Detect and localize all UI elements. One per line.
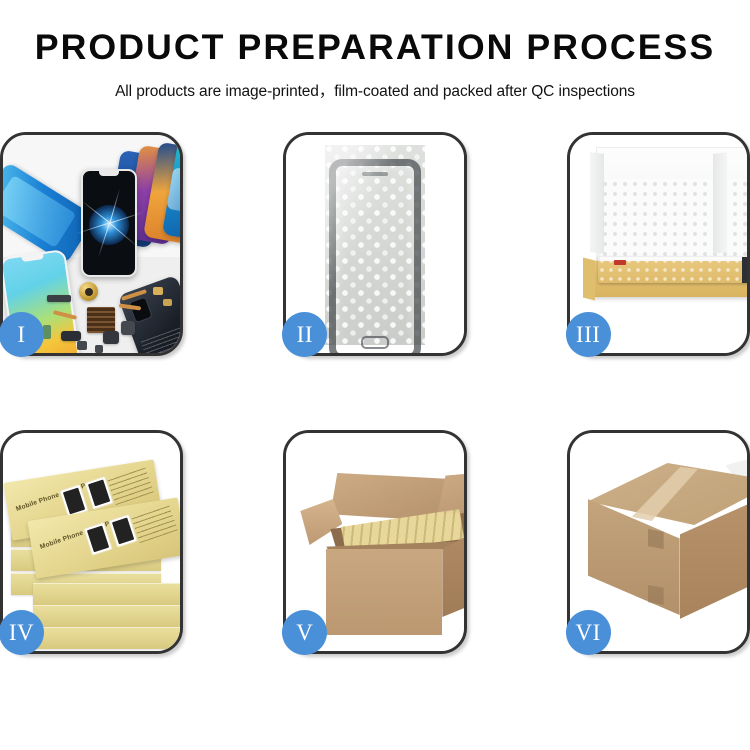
wrapped-product-in-box [598,257,747,283]
ic-chip-grid [87,307,115,333]
carton-front-face [326,549,442,635]
small-component [153,287,163,295]
step-panel-1[interactable]: I [0,132,183,356]
step-panel-3[interactable]: III [567,132,750,356]
step-panel-4[interactable]: Mobile Phone Spare Parts Mobile Phone Sp… [0,430,183,654]
plastic-sheen [325,145,425,345]
small-component [77,341,87,350]
bubble-wrap-sheet [325,145,425,345]
phone-front-screen [81,169,137,277]
step-badge-4: IV [0,610,44,655]
product-dark-end [742,257,747,283]
page-title: PRODUCT PREPARATION PROCESS [0,30,750,67]
notch [99,171,119,176]
step-panel-5[interactable]: V [283,430,466,654]
copper-coil-part [79,282,98,301]
product-red-mark [614,260,626,265]
step-panel-6[interactable]: VI [567,430,750,654]
component-bar [103,331,119,344]
small-component [95,345,103,353]
box-edge [33,627,180,649]
small-component [163,299,172,306]
page-header: PRODUCT PREPARATION PROCESS All products… [0,0,750,101]
small-component [43,325,51,339]
carton-edge-tab [648,529,664,549]
carton-edge-tab [648,585,664,605]
process-row-top: I II [0,132,750,356]
step-badge-3: III [566,312,611,357]
box-edge [33,605,180,627]
component-bar [47,295,71,302]
box-spec-lines [107,466,154,505]
process-step-grid: I II [0,132,750,654]
page-subtitle: All products are image-printed，film-coat… [0,79,750,101]
step-panel-2[interactable]: II [283,132,466,356]
process-row-bottom: Mobile Phone Spare Parts Mobile Phone Sp… [0,430,750,654]
component-bar [61,331,81,341]
notch [21,254,43,262]
step-badge-1: I [0,312,44,357]
box-spec-lines [131,504,178,543]
box-edge [33,583,180,605]
box-flap-right [713,152,727,253]
step-badge-6: VI [566,610,611,655]
box-flap-left [590,152,604,253]
component-bar [121,321,135,335]
